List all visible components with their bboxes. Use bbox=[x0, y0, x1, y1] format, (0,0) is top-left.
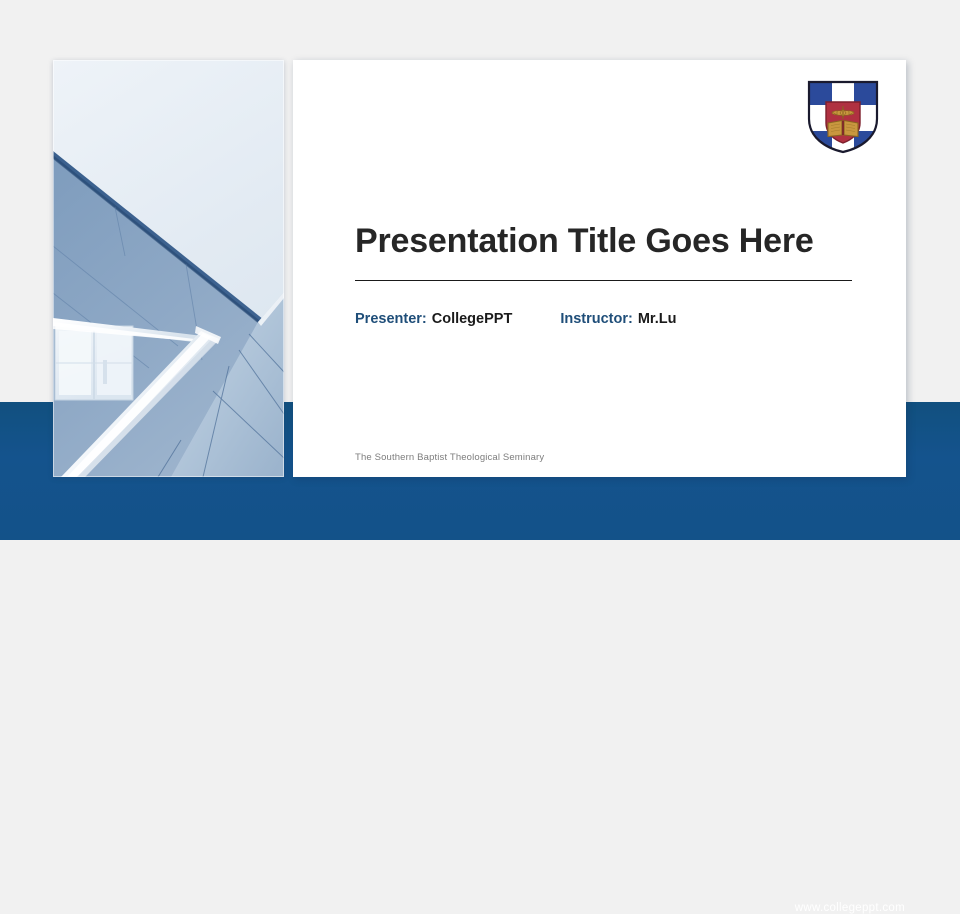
slide-footer-text: The Southern Baptist Theological Seminar… bbox=[355, 452, 544, 463]
architecture-photo bbox=[53, 60, 284, 477]
presenter-label: Presenter: bbox=[355, 311, 427, 327]
instructor-label: Instructor: bbox=[560, 311, 633, 327]
page-title: Presentation Title Goes Here bbox=[355, 223, 853, 260]
slide-card: Presentation Title Goes Here Presenter: … bbox=[293, 60, 906, 477]
instructor-item: Instructor: Mr.Lu bbox=[560, 311, 676, 327]
instructor-value: Mr.Lu bbox=[638, 311, 677, 327]
seminary-crest-icon bbox=[806, 79, 880, 155]
slide-canvas: www.collegeppt.com bbox=[0, 0, 960, 540]
meta-row: Presenter: CollegePPT Instructor: Mr.Lu bbox=[355, 311, 676, 327]
title-block: Presentation Title Goes Here bbox=[355, 223, 853, 281]
title-divider bbox=[355, 280, 852, 281]
presenter-value: CollegePPT bbox=[432, 311, 513, 327]
presenter-item: Presenter: CollegePPT bbox=[355, 311, 512, 327]
site-url-text: www.collegeppt.com bbox=[795, 902, 905, 914]
